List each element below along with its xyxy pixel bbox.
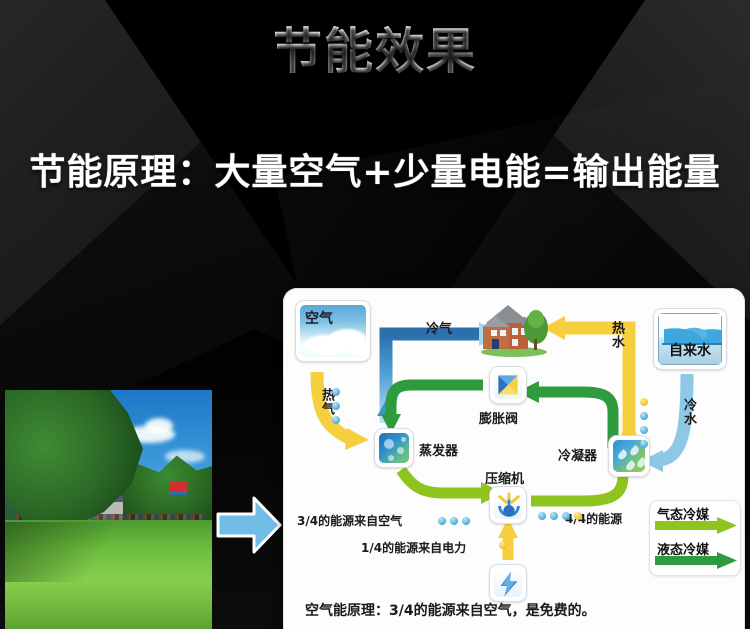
legend-row-liquid: 液态冷媒 bbox=[655, 541, 737, 571]
condenser-label: 冷凝器 bbox=[558, 445, 597, 464]
gas-refrigerant-label: 气态冷媒 bbox=[657, 504, 709, 523]
refrigerant-legend: 气态冷媒 液态冷媒 bbox=[649, 500, 741, 576]
park-lawn-photo bbox=[5, 390, 212, 629]
air-source-thumbnail: 空气 bbox=[295, 300, 371, 362]
four-quarters-note: 4/4的能源 bbox=[565, 510, 622, 527]
compressor-label: 压缩机 bbox=[485, 468, 524, 487]
liquid-refrigerant-label: 液态冷媒 bbox=[657, 539, 709, 558]
one-quarter-note: 1/4的能源来自电力 bbox=[361, 539, 466, 556]
blue-right-arrow-icon bbox=[216, 494, 282, 556]
photo-cloud bbox=[145, 418, 173, 434]
hot-water-label: 热水 bbox=[607, 321, 626, 349]
cool-air-label: 冷气 bbox=[426, 318, 452, 337]
cold-water-label: 冷水 bbox=[679, 398, 698, 426]
air-label: 空气 bbox=[305, 308, 333, 328]
photo-grass-shadow bbox=[5, 522, 135, 582]
title-container: 节能效果 bbox=[0, 26, 750, 77]
evaporator-icon bbox=[374, 428, 414, 468]
expansion-valve-icon bbox=[489, 366, 527, 404]
subtitle-container: 节能原理：大量空气+少量电能=输出能量 bbox=[0, 143, 750, 195]
page-subtitle: 节能原理：大量空气+少量电能=输出能量 bbox=[0, 143, 750, 195]
compressor-icon bbox=[489, 486, 527, 524]
electricity-bolt-icon bbox=[489, 564, 527, 602]
photo-banner bbox=[169, 491, 187, 495]
page-title: 节能效果 bbox=[0, 26, 750, 77]
three-quarters-note: 3/4的能源来自空气 bbox=[297, 512, 402, 529]
photo-banner bbox=[169, 482, 187, 491]
legend-row-gas: 气态冷媒 bbox=[655, 506, 737, 536]
evaporator-label: 蒸发器 bbox=[419, 440, 458, 459]
expansion-valve-label: 膨胀阀 bbox=[479, 408, 518, 427]
slide-root: 节能效果 节能原理：大量空气+少量电能=输出能量 bbox=[0, 0, 750, 629]
diagram-caption: 空气能原理：3/4的能源来自空气，是免费的。 bbox=[305, 600, 596, 620]
house-illustration bbox=[478, 297, 550, 357]
heat-pump-diagram-panel: 空气 自来水 bbox=[283, 288, 745, 629]
tap-water-thumbnail: 自来水 bbox=[653, 308, 727, 370]
tap-water-label: 自来水 bbox=[658, 340, 722, 360]
